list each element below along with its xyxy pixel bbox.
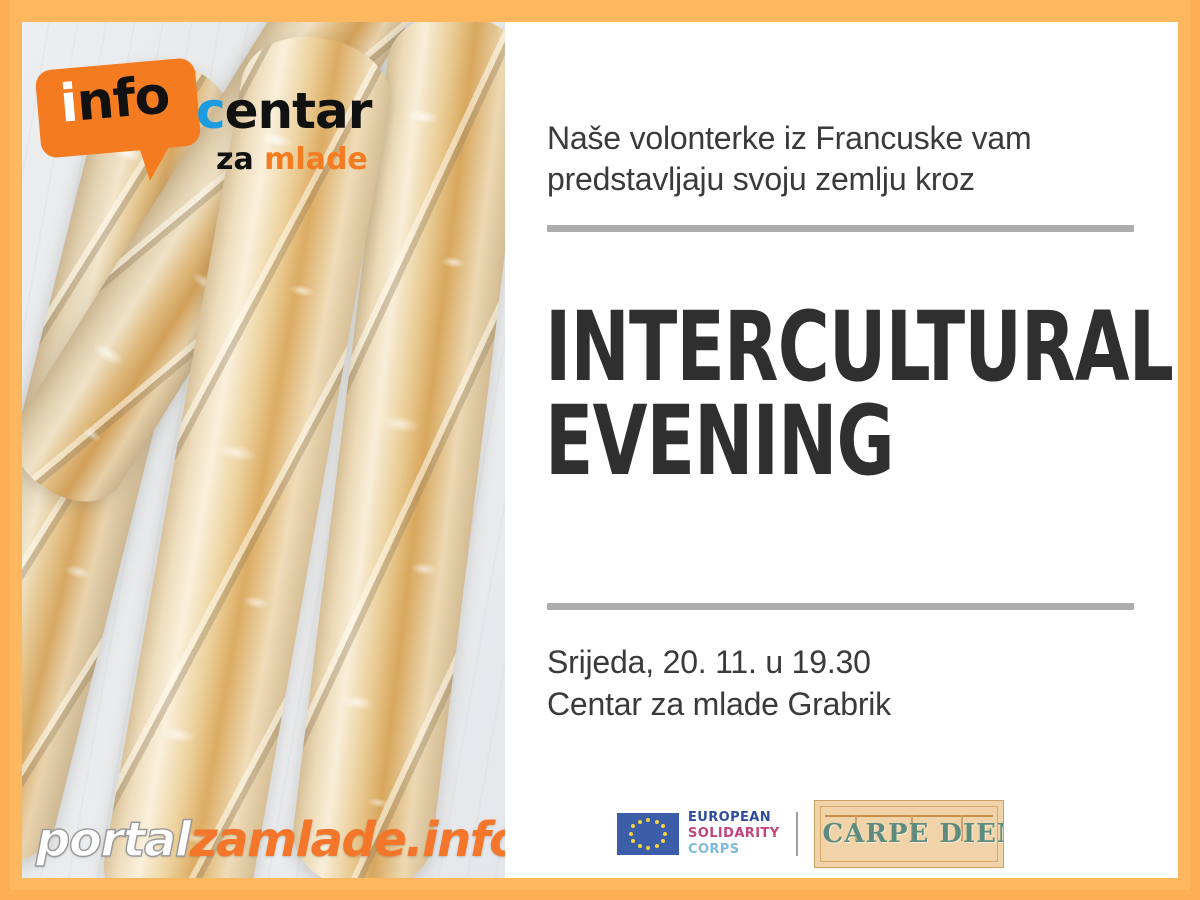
footer-logo-row: EUROPEAN SOLIDARITY CORPS CARPE DIEM (617, 800, 1004, 868)
baguette-photo: info centar za mlade portalzamlade.info (22, 22, 505, 878)
footer-logo-divider (796, 812, 798, 856)
european-solidarity-corps-logo: EUROPEAN SOLIDARITY CORPS (617, 804, 780, 864)
carpe-arch-line (825, 815, 993, 817)
esc-line-european: EUROPEAN (688, 810, 780, 826)
intro-text: Naše volonterke iz Francuske vam predsta… (547, 118, 1147, 200)
divider-top (547, 225, 1134, 232)
logo-letters-nfo: nfo (74, 65, 171, 133)
logo-speech-bubble-tail (136, 134, 180, 181)
carpe-diem-logo: CARPE DIEM (814, 800, 1004, 868)
watermark-portal: portal (36, 812, 190, 868)
eu-flag-icon (617, 813, 679, 855)
logo-letter-c: c (196, 82, 225, 140)
logo-letters-entar: entar (225, 82, 372, 140)
esc-line-solidarity: SOLIDARITY (688, 826, 780, 842)
divider-bottom (547, 603, 1134, 610)
esc-wordmark: EUROPEAN SOLIDARITY CORPS (688, 810, 780, 858)
logo-tagline: za mlade (216, 142, 368, 177)
logo-word-centar: centar (196, 86, 371, 136)
esc-line-corps: CORPS (688, 842, 780, 858)
info-centar-logo: info centar za mlade (38, 58, 398, 188)
poster-root: info centar za mlade portalzamlade.info … (0, 0, 1200, 900)
watermark-zamlade-info: zamlade.info (190, 812, 505, 868)
event-details: Srijeda, 20. 11. u 19.30 Centar za mlade… (547, 642, 1147, 725)
carpe-diem-wordmark: CARPE DIEM (823, 819, 995, 849)
poster-content-card: info centar za mlade portalzamlade.info … (22, 22, 1178, 878)
logo-tagline-mlade: mlade (264, 142, 368, 177)
page-title: INTERCULTURAL EVENING (545, 300, 1053, 488)
logo-tagline-za: za (216, 142, 264, 177)
logo-word-info: info (58, 69, 171, 130)
portalzamlade-watermark: portalzamlade.info (36, 812, 505, 868)
text-panel: Naše volonterke iz Francuske vam predsta… (505, 22, 1178, 878)
